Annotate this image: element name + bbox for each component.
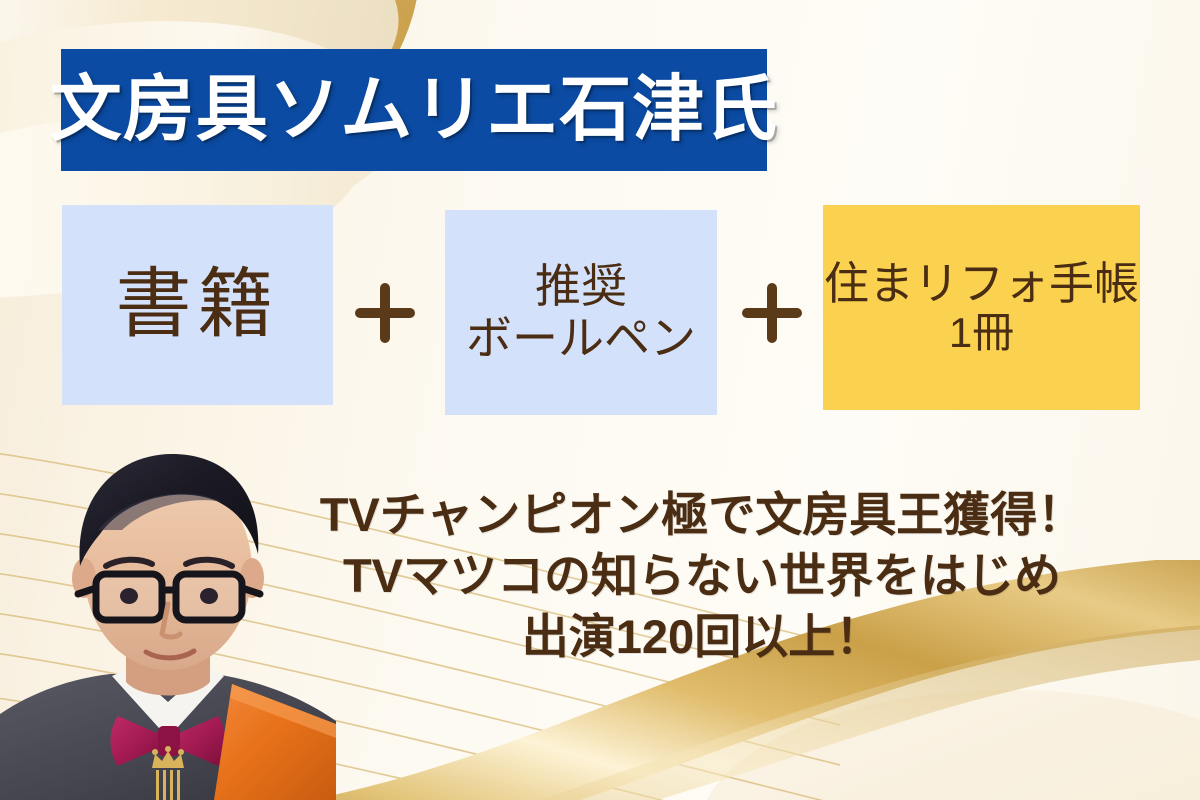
page-title: 文房具ソムリエ石津氏 bbox=[50, 74, 779, 146]
title-banner: 文房具ソムリエ石津氏 bbox=[64, 52, 764, 168]
eye-right bbox=[200, 588, 218, 604]
offer-item-notebook-label-line1: 住まリフォ手帳 bbox=[824, 259, 1139, 309]
offer-item-book: 書籍 bbox=[62, 205, 333, 405]
body-copy-line-2: TVマツコの知らない世界をはじめ bbox=[296, 545, 1108, 606]
body-copy-line-3: 出演120回以上！ bbox=[296, 606, 1108, 667]
offer-item-notebook-label-line2: 1冊 bbox=[949, 309, 1014, 356]
portrait-illustration bbox=[0, 438, 336, 800]
offer-item-book-label: 書籍 bbox=[116, 262, 280, 347]
promo-poster: 文房具ソムリエ石津氏 書籍 推奨 ボールペン 住まリフォ手帳 1冊 bbox=[0, 0, 1200, 800]
offer-item-notebook: 住まリフォ手帳 1冊 bbox=[823, 205, 1140, 410]
offer-row: 書籍 推奨 ボールペン 住まリフォ手帳 1冊 bbox=[0, 205, 1200, 415]
eye-left bbox=[120, 588, 138, 604]
offer-item-pen-label-line2: ボールペン bbox=[466, 313, 696, 365]
portrait-photo bbox=[0, 438, 336, 800]
offer-item-pen: 推奨 ボールペン bbox=[445, 210, 717, 415]
body-copy-line-1: TVチャンピオン極で文房具王獲得！ bbox=[296, 484, 1108, 545]
orange-notebook bbox=[214, 684, 336, 800]
offer-item-pen-label-line1: 推奨 bbox=[535, 261, 627, 313]
plus-icon-1 bbox=[355, 283, 415, 343]
body-copy: TVチャンピオン極で文房具王獲得！ TVマツコの知らない世界をはじめ 出演120… bbox=[296, 484, 1108, 667]
plus-icon-2 bbox=[742, 283, 802, 343]
